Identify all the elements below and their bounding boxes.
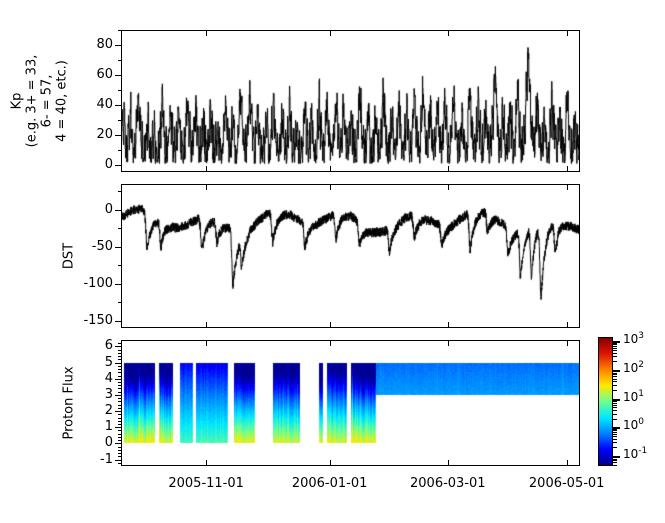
x-tick-major xyxy=(567,340,568,346)
x-tick-major xyxy=(206,184,207,190)
y-tick-label: -100 xyxy=(75,277,113,290)
y-tick-minor xyxy=(118,440,122,441)
y-tick-major xyxy=(115,346,121,347)
y-tick-label: 60 xyxy=(75,68,113,81)
colorbar-tick-minor xyxy=(613,419,617,420)
y-tick-minor xyxy=(118,421,122,422)
colorbar-tick-minor xyxy=(613,407,617,408)
kp-axis-title-line: Kp xyxy=(9,30,24,172)
dst-series-canvas xyxy=(122,185,579,327)
colorbar-tick-label: 103 xyxy=(623,332,644,346)
y-tick-major xyxy=(115,284,121,285)
y-tick-minor xyxy=(118,302,122,303)
x-tick-major xyxy=(330,340,331,346)
colorbar-frame xyxy=(598,337,613,466)
colorbar-tick-minor xyxy=(613,465,617,466)
x-tick-major xyxy=(448,460,449,466)
y-tick-major xyxy=(115,321,121,322)
y-tick-major xyxy=(115,247,121,248)
kp-axis-title-line: (e.g. 3+ = 33, xyxy=(24,30,39,172)
y-tick-minor xyxy=(118,456,122,457)
colorbar-tick-minor xyxy=(613,405,617,406)
y-tick-minor xyxy=(118,434,122,435)
colorbar-tick-minor xyxy=(613,379,617,380)
y-tick-label: -50 xyxy=(75,240,113,253)
colorbar-tick-minor xyxy=(613,439,617,440)
colorbar-tick-minor xyxy=(613,376,617,377)
y-tick-minor xyxy=(118,392,122,393)
y-tick-label: 80 xyxy=(75,38,113,51)
y-tick-minor xyxy=(118,60,122,61)
y-tick-minor xyxy=(118,353,122,354)
x-tick-major xyxy=(567,184,568,190)
y-tick-label: 0 xyxy=(75,436,113,449)
colorbar-tick-minor xyxy=(613,400,617,401)
y-tick-minor xyxy=(118,414,122,415)
y-tick-minor xyxy=(118,405,122,406)
colorbar-tick-minor xyxy=(613,350,617,351)
x-tick-major xyxy=(206,340,207,346)
x-tick-major xyxy=(330,460,331,466)
y-tick-minor xyxy=(118,356,122,357)
x-tick-label: 2005-11-01 xyxy=(154,477,258,490)
y-tick-major xyxy=(115,411,121,412)
colorbar-exponent: -1 xyxy=(638,446,647,456)
colorbar-tick-minor xyxy=(613,436,617,437)
kp-series-canvas xyxy=(122,31,579,171)
colorbar-tick-minor xyxy=(613,442,617,443)
colorbar-tick-minor xyxy=(613,343,617,344)
y-tick-minor xyxy=(118,385,122,386)
colorbar-tick-minor xyxy=(613,447,617,448)
y-tick-label: 6 xyxy=(75,339,113,352)
colorbar-tick-minor xyxy=(613,356,617,357)
y-tick-minor xyxy=(118,447,122,448)
y-tick-label: 0 xyxy=(75,158,113,171)
y-tick-major xyxy=(115,427,121,428)
colorbar-exponent: 3 xyxy=(638,331,644,341)
y-tick-minor xyxy=(118,90,122,91)
x-tick-label: 2006-03-01 xyxy=(396,477,500,490)
colorbar-tick-label: 100 xyxy=(623,418,644,432)
y-tick-minor xyxy=(118,453,122,454)
kp-axis-title-line: 6- = 57, xyxy=(39,30,54,172)
colorbar-exponent: 1 xyxy=(638,389,644,399)
x-tick-major xyxy=(448,340,449,346)
colorbar-tick-label: 10-1 xyxy=(623,447,647,461)
y-tick-minor xyxy=(118,463,122,464)
y-tick-major xyxy=(115,210,121,211)
y-tick-minor xyxy=(118,228,122,229)
colorbar-tick-minor xyxy=(613,457,617,458)
y-tick-major xyxy=(115,105,121,106)
y-tick-minor xyxy=(118,30,122,31)
y-tick-minor xyxy=(118,388,122,389)
y-tick-label: 40 xyxy=(75,98,113,111)
x-tick-label: 2006-05-01 xyxy=(515,477,619,490)
proton-flux-axis-title: Proton Flux xyxy=(62,320,77,486)
y-tick-minor xyxy=(118,343,122,344)
y-tick-minor xyxy=(118,150,122,151)
y-tick-minor xyxy=(118,350,122,351)
figure-canvas: 020406080 Kp(e.g. 3+ = 33,6- = 57,4 = 40… xyxy=(0,0,665,523)
y-tick-minor xyxy=(118,372,122,373)
y-tick-label: 1 xyxy=(75,420,113,433)
x-tick-major xyxy=(330,322,331,328)
x-tick-major xyxy=(567,166,568,172)
y-tick-label: 3 xyxy=(75,388,113,401)
colorbar-tick-label: 102 xyxy=(623,361,644,375)
x-tick-major xyxy=(206,460,207,466)
colorbar-tick-minor xyxy=(613,348,617,349)
colorbar-tick-minor xyxy=(613,432,617,433)
y-tick-label: 4 xyxy=(75,372,113,385)
x-tick-label: 2006-01-01 xyxy=(278,477,382,490)
colorbar-exponent: 2 xyxy=(638,360,644,370)
y-tick-major xyxy=(115,165,121,166)
y-tick-minor xyxy=(118,376,122,377)
colorbar-tick-minor xyxy=(613,429,617,430)
colorbar-tick-minor xyxy=(613,414,617,415)
colorbar-tick-minor xyxy=(613,390,617,391)
y-tick-minor xyxy=(118,191,122,192)
colorbar-tick-label: 101 xyxy=(623,390,644,404)
y-tick-minor xyxy=(118,369,122,370)
x-tick-major xyxy=(448,30,449,36)
x-tick-major xyxy=(448,184,449,190)
y-tick-minor xyxy=(118,359,122,360)
colorbar-tick-minor xyxy=(613,434,617,435)
colorbar-exponent: 0 xyxy=(638,417,644,427)
x-tick-major xyxy=(567,322,568,328)
colorbar-tick-minor xyxy=(613,381,617,382)
x-tick-major xyxy=(567,460,568,466)
y-tick-major xyxy=(115,460,121,461)
y-tick-label: 2 xyxy=(75,404,113,417)
x-tick-major xyxy=(206,166,207,172)
x-tick-major xyxy=(448,322,449,328)
x-tick-major xyxy=(448,166,449,172)
y-tick-major xyxy=(115,379,121,380)
colorbar-tick-minor xyxy=(613,371,617,372)
y-tick-minor xyxy=(118,424,122,425)
colorbar-tick-minor xyxy=(613,346,617,347)
y-tick-minor xyxy=(118,437,122,438)
y-tick-label: -150 xyxy=(75,314,113,327)
y-tick-minor xyxy=(118,398,122,399)
colorbar-tick-minor xyxy=(613,361,617,362)
colorbar-tick-minor xyxy=(613,385,617,386)
proton-flux-heatmap-canvas xyxy=(122,341,579,465)
x-tick-major xyxy=(330,166,331,172)
y-tick-major xyxy=(115,45,121,46)
y-tick-label: -1 xyxy=(75,453,113,466)
y-tick-major xyxy=(115,363,121,364)
y-tick-minor xyxy=(118,450,122,451)
y-tick-label: 5 xyxy=(75,356,113,369)
colorbar-tick-minor xyxy=(613,353,617,354)
y-tick-minor xyxy=(118,265,122,266)
kp-axis-title-line: 4 = 40, etc.) xyxy=(54,30,69,172)
y-tick-major xyxy=(115,135,121,136)
y-tick-major xyxy=(115,443,121,444)
y-tick-minor xyxy=(118,408,122,409)
y-tick-label: 0 xyxy=(75,203,113,216)
x-tick-major xyxy=(567,30,568,36)
colorbar-tick-minor xyxy=(613,403,617,404)
y-tick-major xyxy=(115,395,121,396)
x-tick-major xyxy=(330,184,331,190)
y-tick-minor xyxy=(118,366,122,367)
y-tick-minor xyxy=(118,382,122,383)
y-tick-major xyxy=(115,75,121,76)
y-tick-label: 20 xyxy=(75,128,113,141)
colorbar-tick-minor xyxy=(613,462,617,463)
kp-axis-title: Kp(e.g. 3+ = 33,6- = 57,4 = 40, etc.) xyxy=(9,30,69,172)
colorbar-tick-minor xyxy=(613,459,617,460)
y-tick-minor xyxy=(118,401,122,402)
x-tick-major xyxy=(206,30,207,36)
colorbar-tick-minor xyxy=(613,373,617,374)
y-tick-minor xyxy=(118,120,122,121)
x-tick-major xyxy=(330,30,331,36)
y-tick-minor xyxy=(118,418,122,419)
y-tick-minor xyxy=(118,430,122,431)
colorbar-tick-minor xyxy=(613,410,617,411)
x-tick-major xyxy=(206,322,207,328)
